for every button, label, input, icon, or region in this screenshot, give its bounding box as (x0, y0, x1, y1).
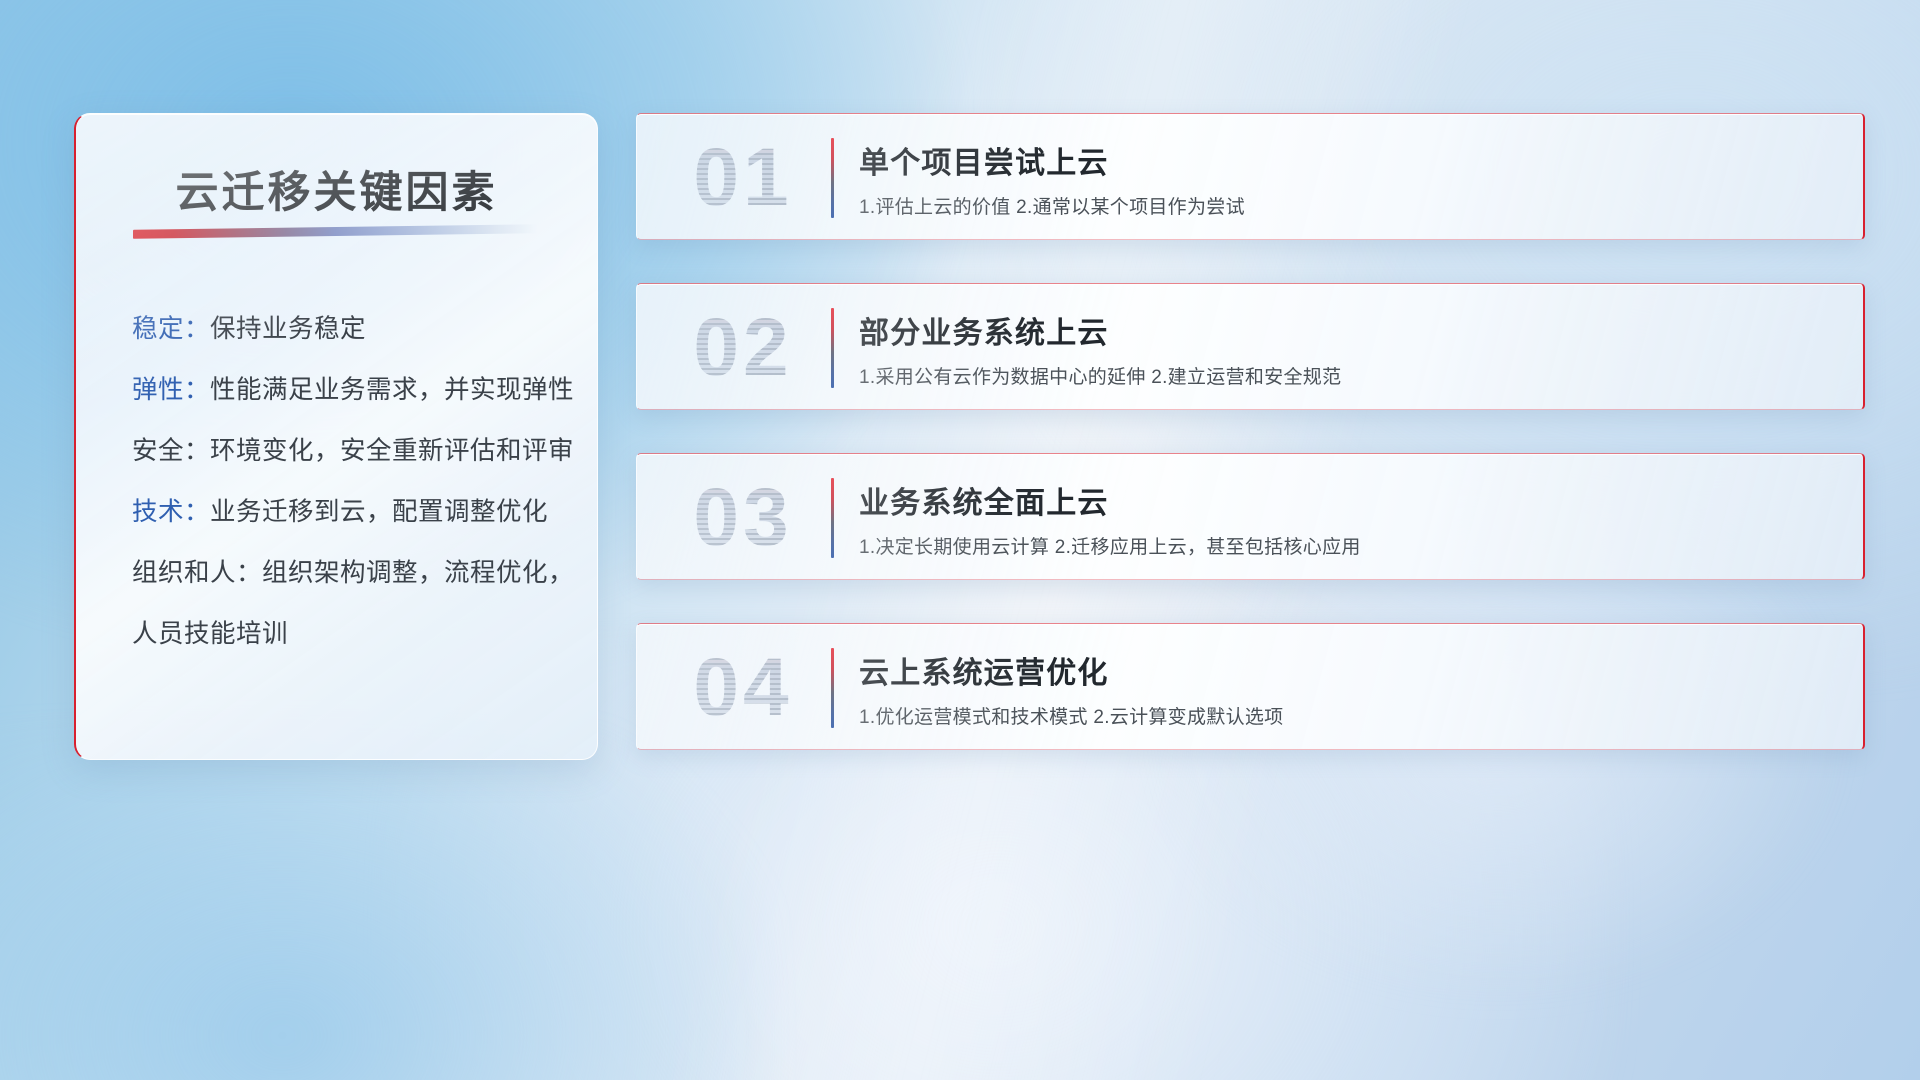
factor-text: 人员技能培训 (132, 620, 288, 648)
step-divider-accent (831, 648, 834, 728)
step-number: 01 (663, 128, 823, 228)
factor-text: 环境变化，安全重新评估和评审 (210, 437, 574, 465)
step-number: 04 (663, 638, 823, 738)
step-card-02[interactable]: 02 部分业务系统上云 1.采用公有云作为数据中心的延伸 2.建立运营和安全规范 (636, 283, 1865, 410)
factor-text: 业务迁移到云，配置调整优化 (210, 498, 548, 526)
step-divider-accent (831, 478, 834, 558)
factor-label: 组织和人： (132, 559, 262, 587)
factor-item: 安全：环境变化，安全重新评估和评审 (132, 421, 567, 482)
factor-label: 稳定： (132, 315, 210, 343)
title-underline-accent (133, 224, 537, 239)
factor-list: 稳定：保持业务稳定 弹性：性能满足业务需求，并实现弹性 安全：环境变化，安全重新… (132, 299, 567, 665)
step-subtitle: 1.决定长期使用云计算 2.迁移应用上云，甚至包括核心应用 (859, 532, 1361, 559)
factor-item: 组织和人：组织架构调整，流程优化， (132, 543, 567, 604)
factor-text: 性能满足业务需求，并实现弹性 (210, 376, 574, 404)
factor-item: 弹性：性能满足业务需求，并实现弹性 (132, 360, 567, 421)
factor-item-continuation: 人员技能培训 (132, 604, 567, 665)
panel-title: 云迁移关键因素 (76, 158, 597, 220)
step-number: 03 (663, 468, 823, 568)
step-divider-accent (831, 308, 834, 388)
step-title: 单个项目尝试上云 (859, 138, 1109, 182)
factor-text: 组织架构调整，流程优化， (262, 559, 574, 587)
step-card-04[interactable]: 04 云上系统运营优化 1.优化运营模式和技术模式 2.云计算变成默认选项 (636, 623, 1865, 750)
step-title: 业务系统全面上云 (859, 478, 1109, 522)
step-card-03[interactable]: 03 业务系统全面上云 1.决定长期使用云计算 2.迁移应用上云，甚至包括核心应… (636, 453, 1865, 580)
factor-label: 安全： (132, 437, 210, 465)
factor-text: 保持业务稳定 (210, 315, 366, 343)
factor-item: 稳定：保持业务稳定 (132, 299, 567, 360)
factor-item: 技术：业务迁移到云，配置调整优化 (132, 482, 567, 543)
slide-stage: 云迁移关键因素 稳定：保持业务稳定 弹性：性能满足业务需求，并实现弹性 安全：环… (0, 0, 1920, 1080)
factor-label: 弹性： (132, 376, 210, 404)
step-subtitle: 1.优化运营模式和技术模式 2.云计算变成默认选项 (859, 702, 1283, 729)
step-subtitle: 1.采用公有云作为数据中心的延伸 2.建立运营和安全规范 (859, 362, 1341, 389)
step-card-01[interactable]: 01 单个项目尝试上云 1.评估上云的价值 2.通常以某个项目作为尝试 (636, 113, 1865, 240)
step-subtitle: 1.评估上云的价值 2.通常以某个项目作为尝试 (859, 192, 1245, 219)
key-factors-panel: 云迁移关键因素 稳定：保持业务稳定 弹性：性能满足业务需求，并实现弹性 安全：环… (74, 113, 598, 760)
step-divider-accent (831, 138, 834, 218)
factor-label: 技术： (132, 498, 210, 526)
step-title: 部分业务系统上云 (859, 308, 1109, 352)
step-number: 02 (663, 298, 823, 398)
step-title: 云上系统运营优化 (859, 648, 1109, 692)
